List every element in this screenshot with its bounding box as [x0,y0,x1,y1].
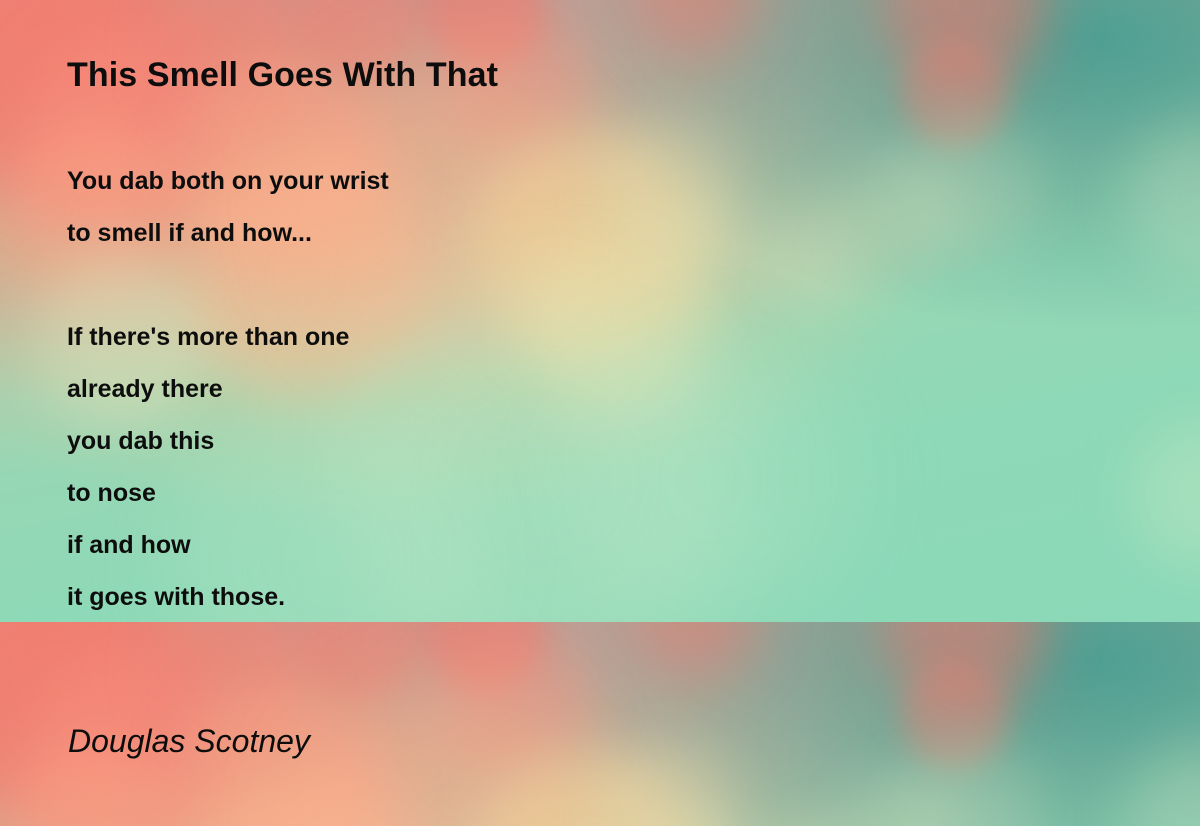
bokeh-circle [420,622,548,694]
bokeh-circle [1060,0,1200,110]
poem-line: If there's more than one [67,311,1067,363]
poem-card: This Smell Goes With That You dab both o… [0,0,1200,826]
bokeh-circle [440,630,590,780]
bokeh-circle [0,622,190,822]
bokeh-circle [470,752,700,826]
bokeh-circle [1120,120,1200,280]
bokeh-circle [640,822,760,826]
bokeh-circle [880,622,1050,712]
poem-line-blank [67,259,1067,311]
bokeh-circle [760,822,870,826]
bokeh-circle [880,0,1050,90]
poem-author: Douglas Scotney [68,723,310,760]
bokeh-circle [180,772,430,826]
bokeh-circle [840,772,960,826]
bokeh-circle [600,742,740,826]
poem-line: You dab both on your wrist [67,155,1067,207]
poem-body: You dab both on your wristto smell if an… [67,155,1067,623]
poem-line: to smell if and how... [67,207,1067,259]
bokeh-circle [300,622,420,702]
bokeh-circle [1120,742,1200,826]
poem-line: to nose [67,467,1067,519]
bokeh-circle [630,0,760,60]
poem-line: if and how [67,519,1067,571]
bokeh-circle [630,622,760,682]
bokeh-circle [300,682,600,826]
poem-line: you dab this [67,415,1067,467]
bokeh-circle [900,662,1010,772]
poem-line: already there [67,363,1067,415]
bokeh-circle [900,40,1010,150]
bokeh-circle [900,742,1040,826]
bokeh-circle [1060,622,1200,732]
poem-line: it goes with those. [67,571,1067,623]
bokeh-circle [1130,420,1200,570]
page-title: This Smell Goes With That [67,56,498,95]
